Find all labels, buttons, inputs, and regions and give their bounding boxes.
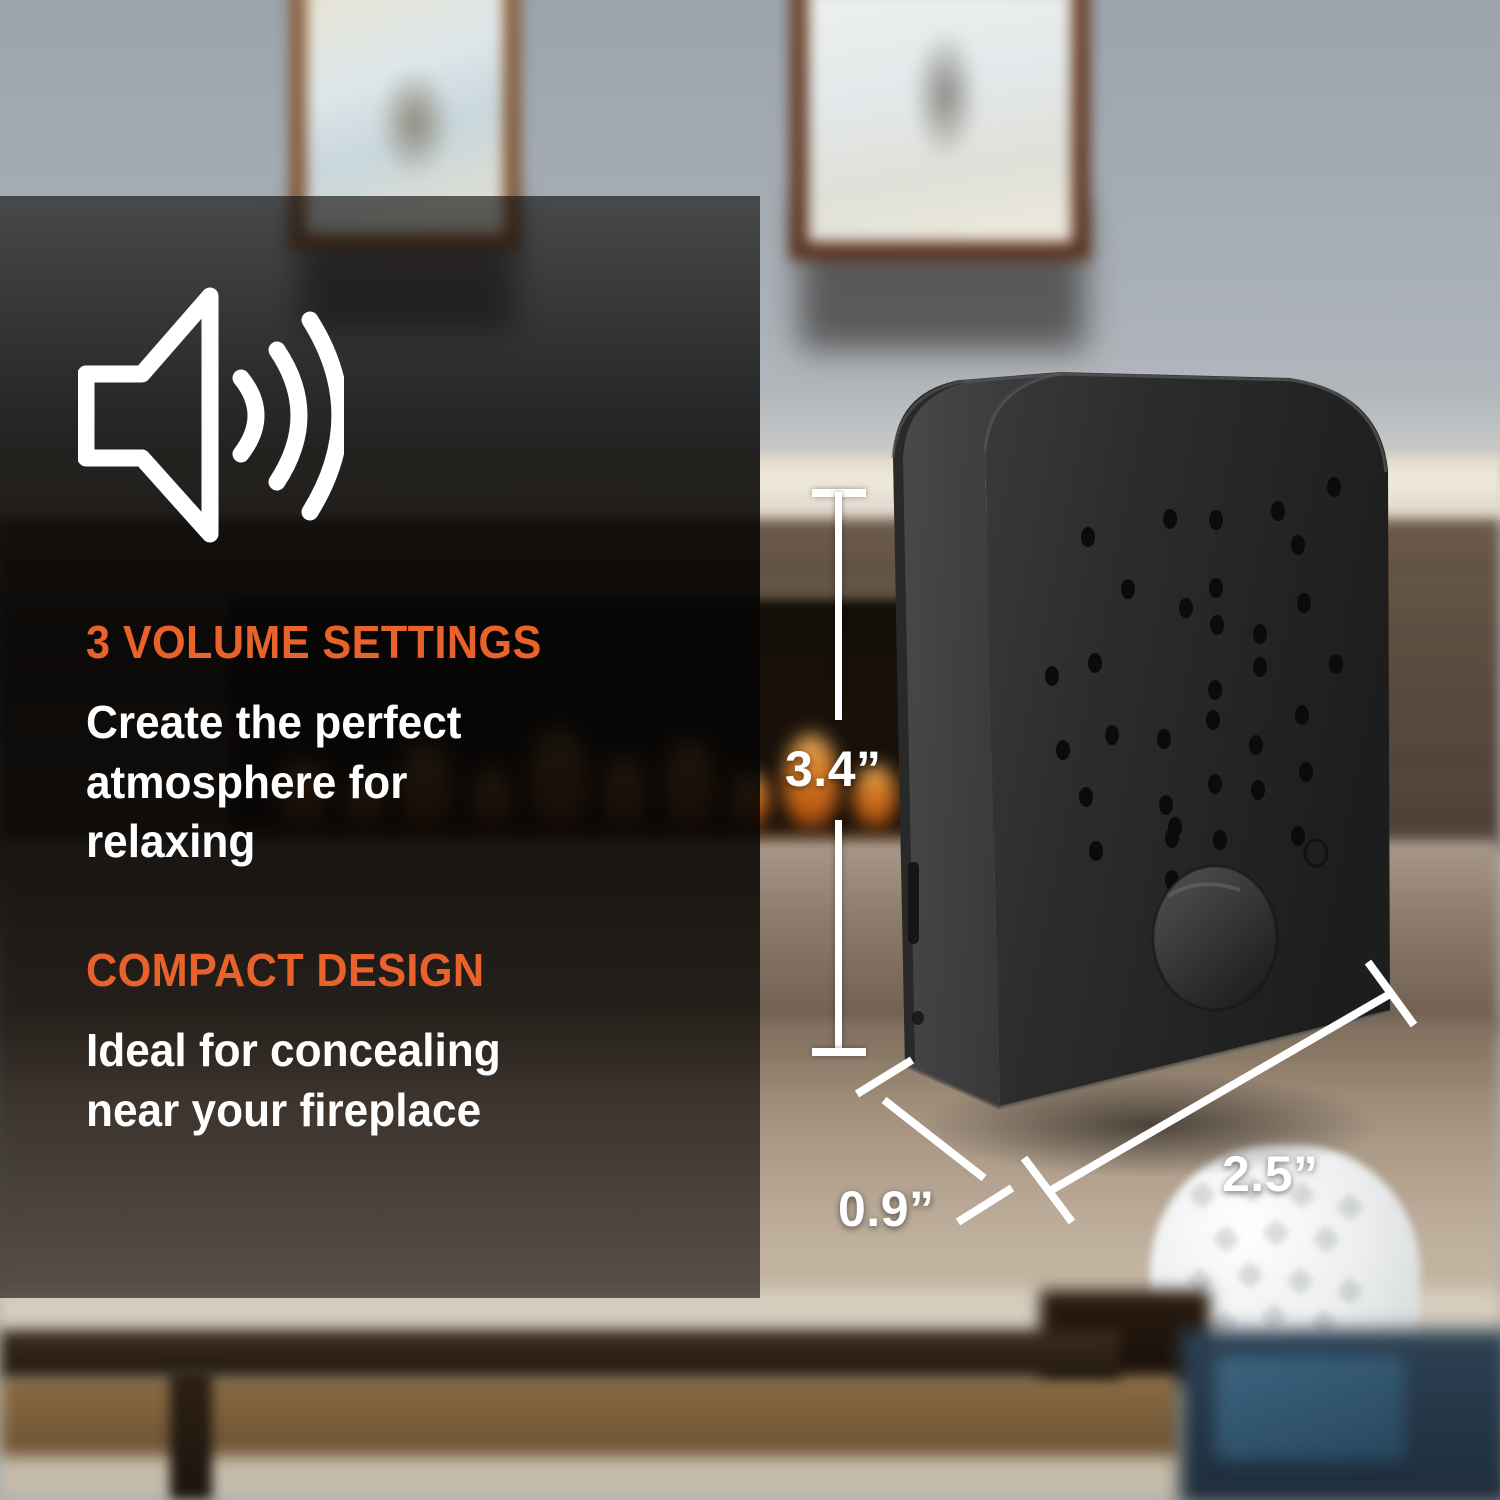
height-dimension-line-lower: [835, 820, 842, 1052]
product-marketing-image: 3 VOLUME SETTINGS Create the perfect atm…: [0, 0, 1500, 1500]
width-dimension-label: 2.5”: [1222, 1145, 1319, 1203]
dimension-annotations: 3.4” 0.9” 2.5”: [0, 0, 1500, 1500]
height-dimension-cap-bottom: [812, 1048, 866, 1056]
height-dimension-label: 3.4”: [785, 740, 882, 798]
height-dimension-line-upper: [835, 492, 842, 720]
diagonal-dimension-lines: [0, 0, 1500, 1500]
depth-dimension-label: 0.9”: [838, 1180, 935, 1238]
